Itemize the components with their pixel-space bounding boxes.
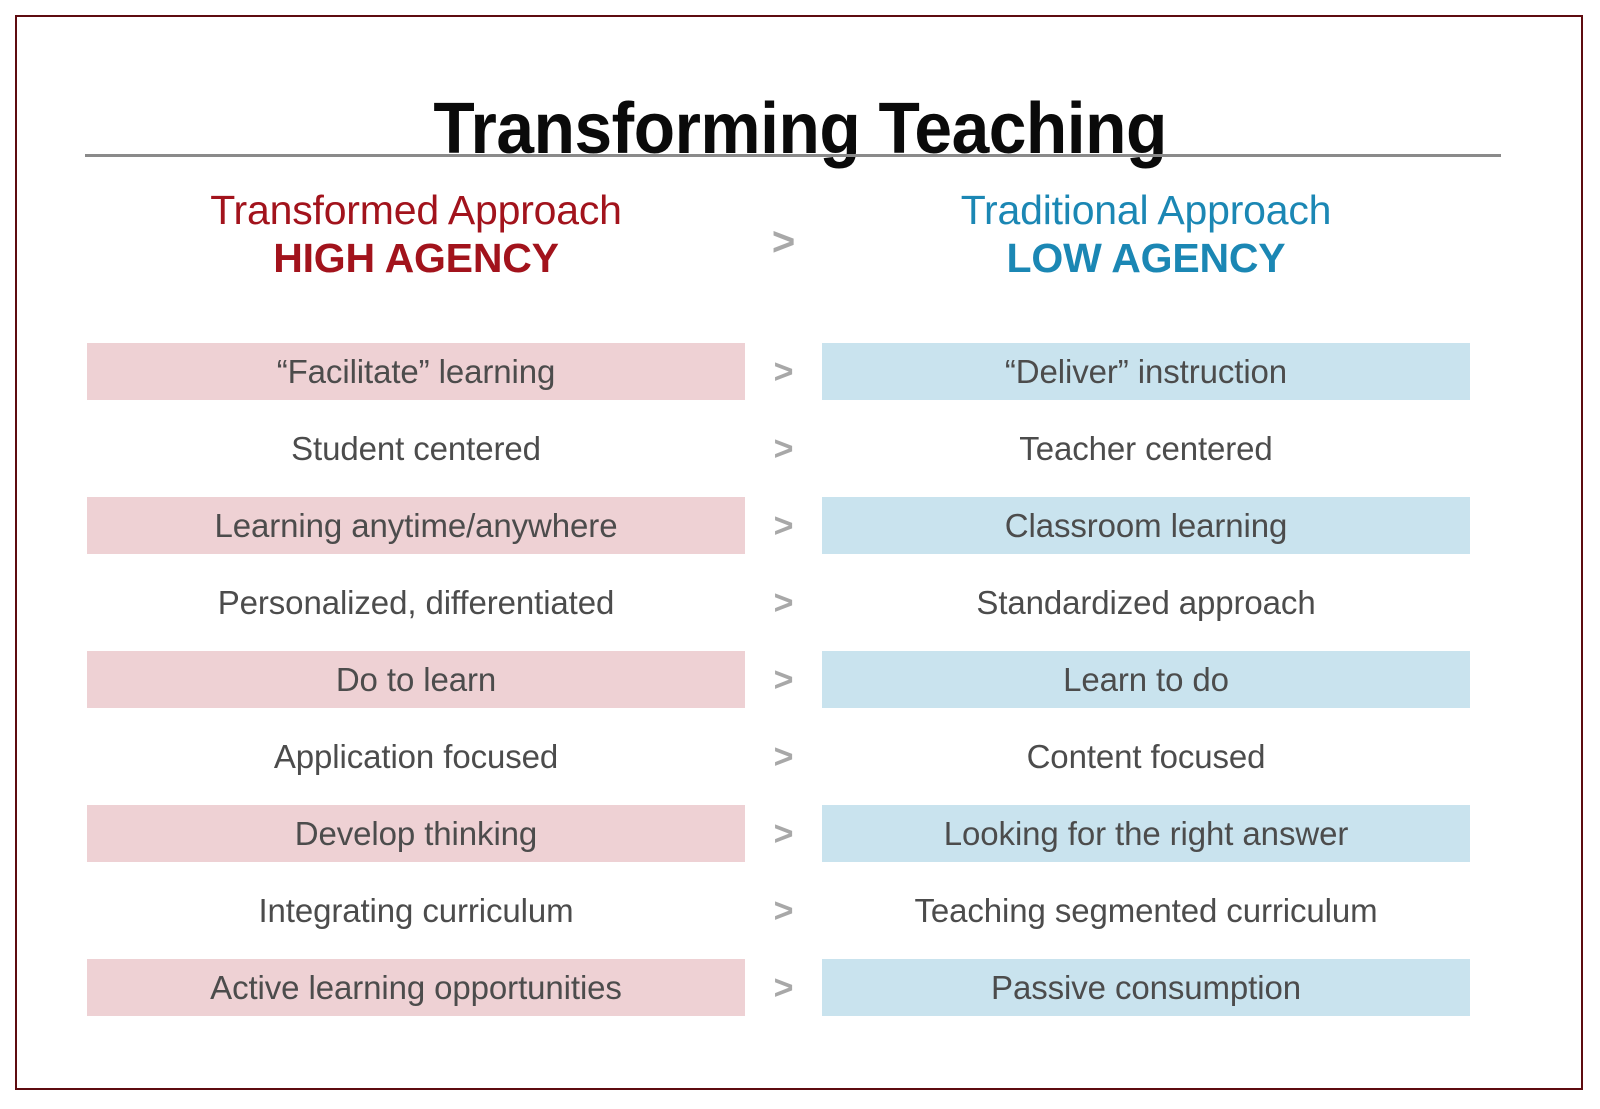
transformed-approach-cell: Application focused xyxy=(87,728,745,785)
transformed-approach-cell: Personalized, differentiated xyxy=(87,574,745,631)
chevron-right-icon: > xyxy=(745,343,822,400)
column-header-right-line1: Traditional Approach xyxy=(822,186,1470,234)
column-header-left: Transformed Approach HIGH AGENCY xyxy=(87,186,745,283)
table-row: Application focused>Content focused xyxy=(0,728,1600,805)
transformed-approach-cell: Learning anytime/anywhere xyxy=(87,497,745,554)
column-header-right: Traditional Approach LOW AGENCY xyxy=(822,186,1470,283)
column-header-right-line2: LOW AGENCY xyxy=(822,234,1470,282)
title-divider xyxy=(85,154,1501,157)
transformed-approach-cell: Develop thinking xyxy=(87,805,745,862)
transformed-approach-cell: “Facilitate” learning xyxy=(87,343,745,400)
traditional-approach-cell: Looking for the right answer xyxy=(822,805,1470,862)
traditional-approach-cell: Standardized approach xyxy=(822,574,1470,631)
chevron-right-icon: > xyxy=(745,497,822,554)
traditional-approach-cell: Classroom learning xyxy=(822,497,1470,554)
table-row: Do to learn>Learn to do xyxy=(0,651,1600,728)
table-row: Integrating curriculum>Teaching segmente… xyxy=(0,882,1600,959)
chevron-right-icon: > xyxy=(745,805,822,862)
column-header-left-line2: HIGH AGENCY xyxy=(87,234,745,282)
table-row: Develop thinking>Looking for the right a… xyxy=(0,805,1600,882)
chevron-right-icon: > xyxy=(745,959,822,1016)
traditional-approach-cell: Passive consumption xyxy=(822,959,1470,1016)
table-row: “Facilitate” learning>“Deliver” instruct… xyxy=(0,343,1600,420)
transformed-approach-cell: Integrating curriculum xyxy=(87,882,745,939)
traditional-approach-cell: Learn to do xyxy=(822,651,1470,708)
slide-canvas: Transforming Teaching Transformed Approa… xyxy=(0,0,1600,1109)
chevron-right-icon: > xyxy=(745,728,822,785)
table-row: Student centered>Teacher centered xyxy=(0,420,1600,497)
column-header-left-line1: Transformed Approach xyxy=(87,186,745,234)
column-headers: Transformed Approach HIGH AGENCY > Tradi… xyxy=(0,186,1600,306)
header-chevron-right-icon: > xyxy=(745,186,822,298)
traditional-approach-cell: Content focused xyxy=(822,728,1470,785)
table-row: Active learning opportunities>Passive co… xyxy=(0,959,1600,1036)
chevron-right-icon: > xyxy=(745,651,822,708)
transformed-approach-cell: Student centered xyxy=(87,420,745,477)
table-row: Personalized, differentiated>Standardize… xyxy=(0,574,1600,651)
chevron-right-icon: > xyxy=(745,882,822,939)
traditional-approach-cell: “Deliver” instruction xyxy=(822,343,1470,400)
traditional-approach-cell: Teaching segmented curriculum xyxy=(822,882,1470,939)
chevron-right-icon: > xyxy=(745,420,822,477)
table-row: Learning anytime/anywhere>Classroom lear… xyxy=(0,497,1600,574)
transformed-approach-cell: Active learning opportunities xyxy=(87,959,745,1016)
transformed-approach-cell: Do to learn xyxy=(87,651,745,708)
comparison-rows: “Facilitate” learning>“Deliver” instruct… xyxy=(0,343,1600,1036)
chevron-right-icon: > xyxy=(745,574,822,631)
traditional-approach-cell: Teacher centered xyxy=(822,420,1470,477)
